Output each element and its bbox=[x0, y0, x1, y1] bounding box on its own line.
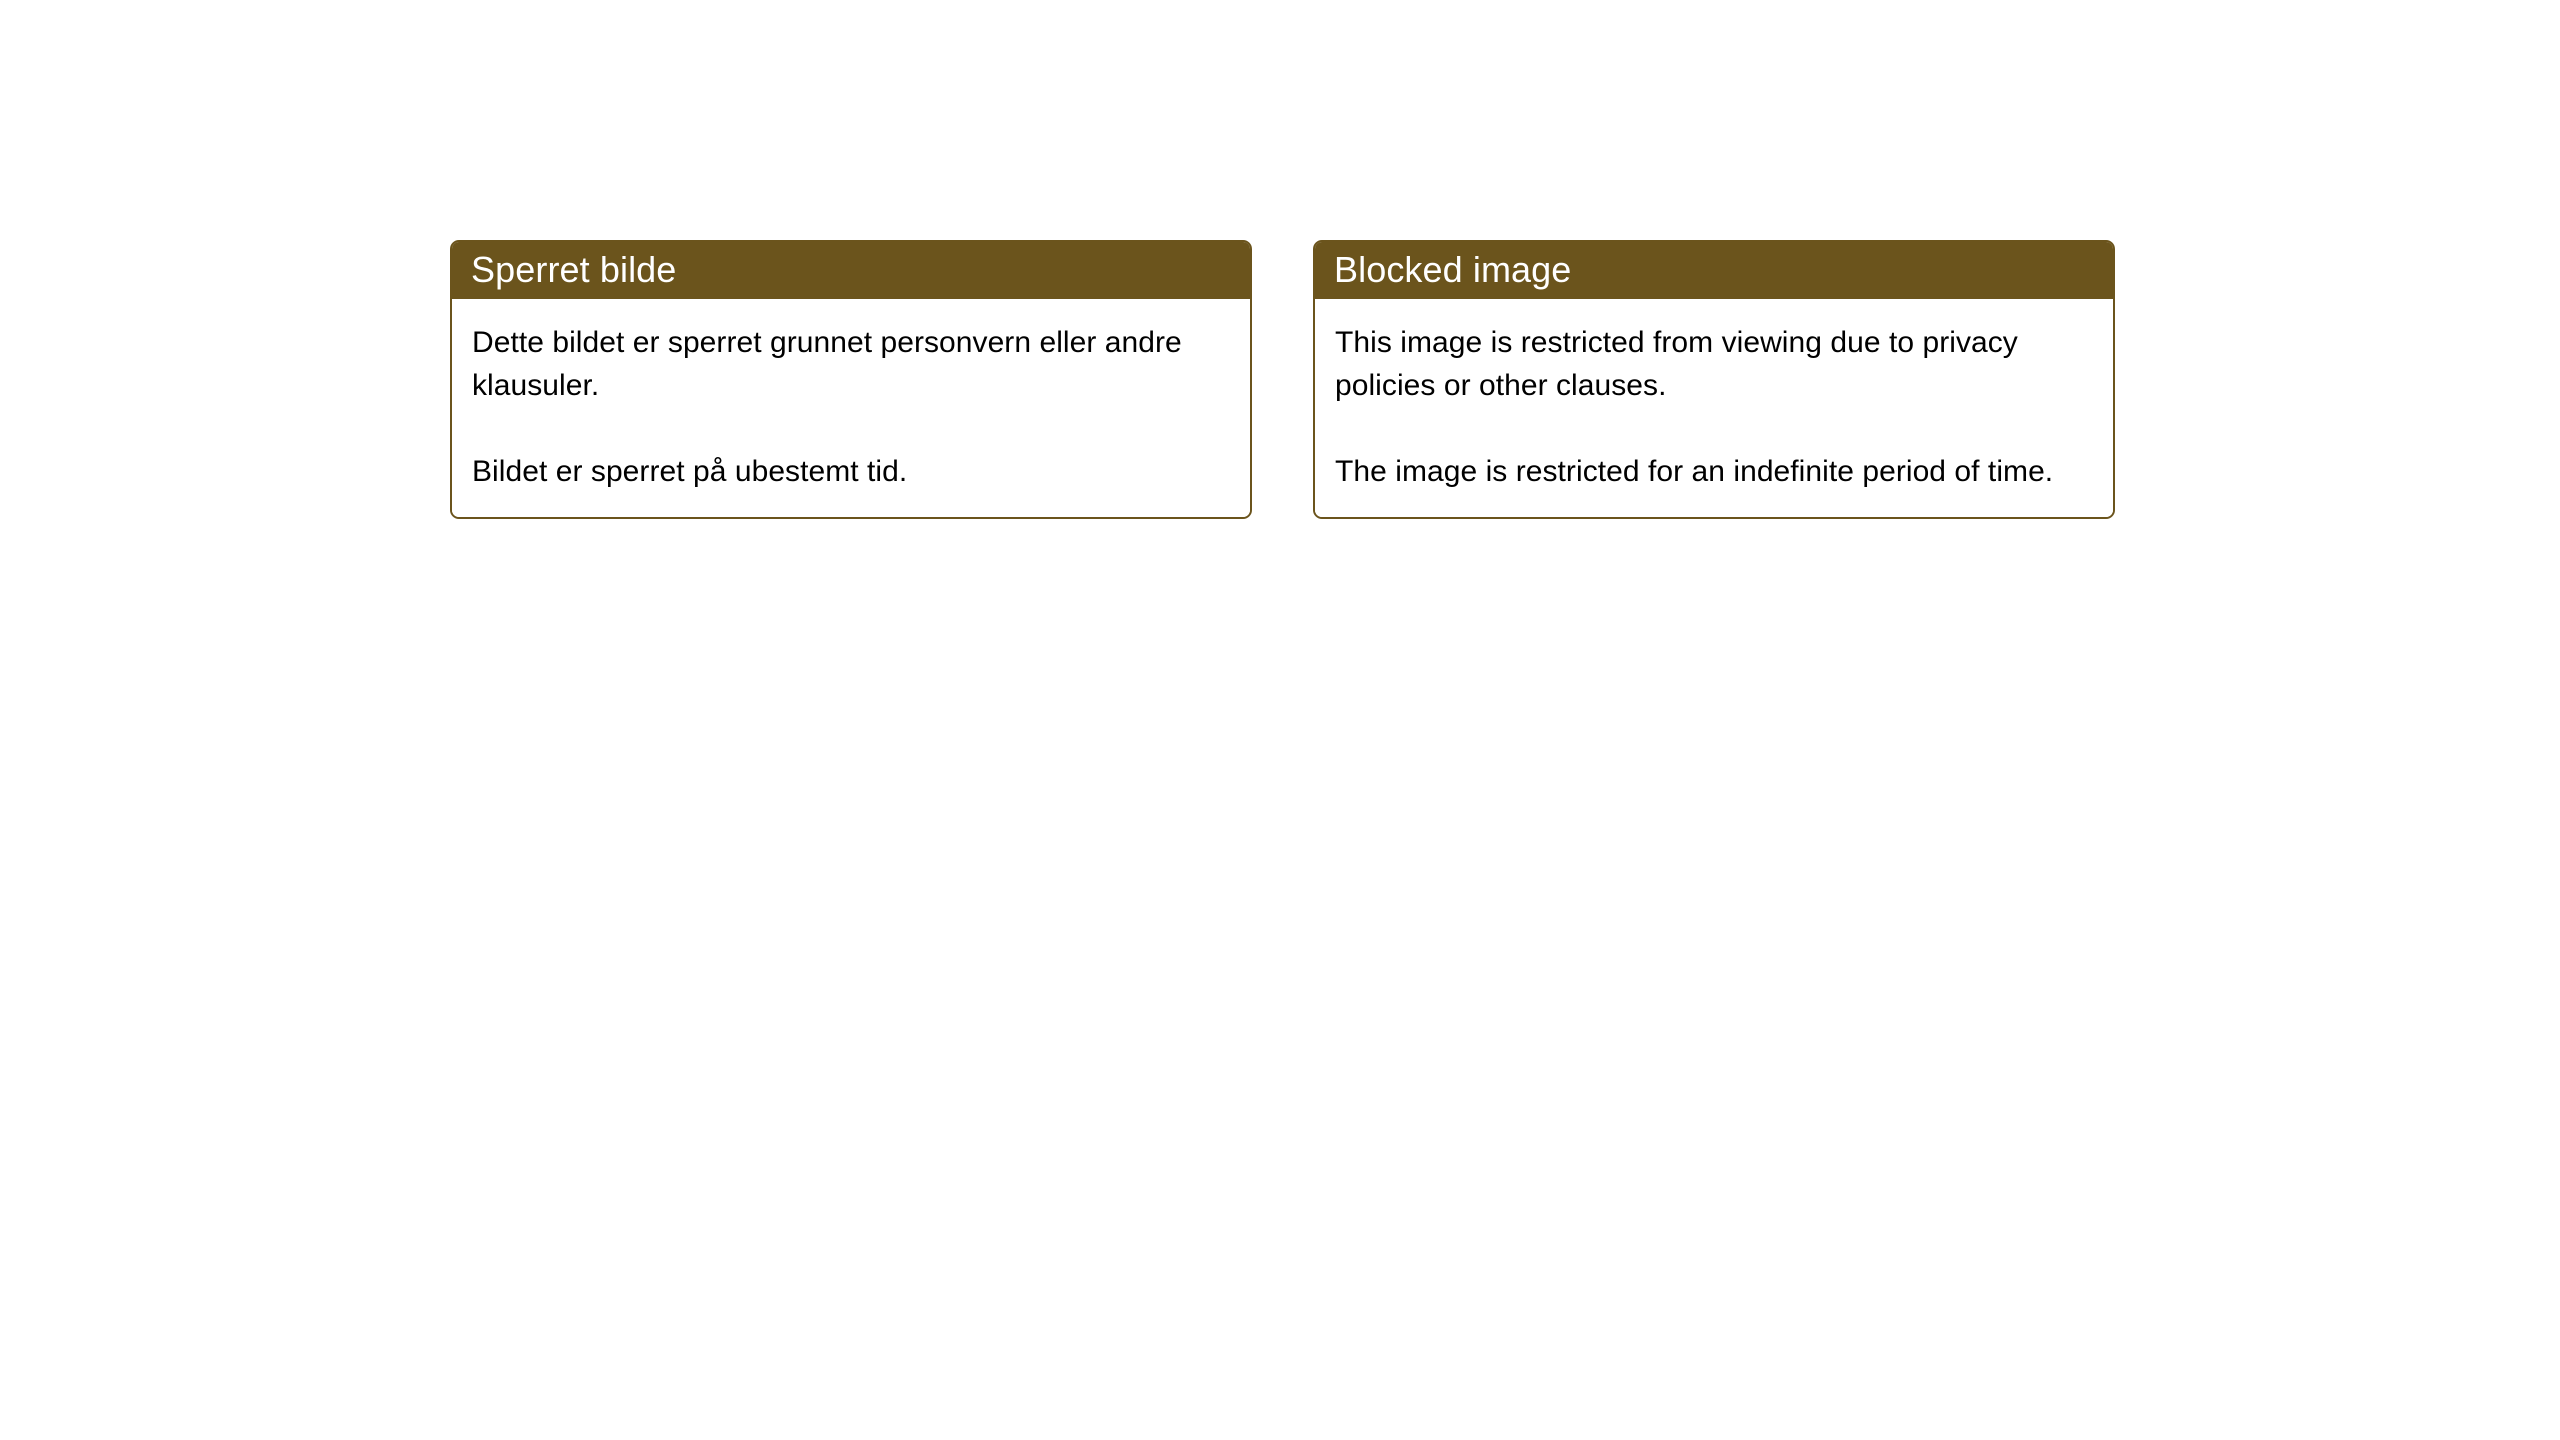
blocked-image-card-norwegian: Sperret bilde Dette bildet er sperret gr… bbox=[450, 240, 1252, 519]
card-title-english: Blocked image bbox=[1334, 250, 1571, 290]
card-header-norwegian: Sperret bilde bbox=[451, 241, 1251, 299]
card-body-norwegian: Dette bildet er sperret grunnet personve… bbox=[452, 299, 1250, 517]
card-title-norwegian: Sperret bilde bbox=[471, 250, 676, 290]
blocked-image-notice-group: Sperret bilde Dette bildet er sperret gr… bbox=[450, 240, 2115, 519]
card-paragraph-primary-english: This image is restricted from viewing du… bbox=[1335, 321, 2093, 407]
card-body-english: This image is restricted from viewing du… bbox=[1315, 299, 2113, 517]
card-paragraph-primary-norwegian: Dette bildet er sperret grunnet personve… bbox=[472, 321, 1230, 407]
card-paragraph-secondary-norwegian: Bildet er sperret på ubestemt tid. bbox=[472, 450, 1230, 493]
card-paragraph-secondary-english: The image is restricted for an indefinit… bbox=[1335, 450, 2093, 493]
blocked-image-card-english: Blocked image This image is restricted f… bbox=[1313, 240, 2115, 519]
card-header-english: Blocked image bbox=[1314, 241, 2114, 299]
